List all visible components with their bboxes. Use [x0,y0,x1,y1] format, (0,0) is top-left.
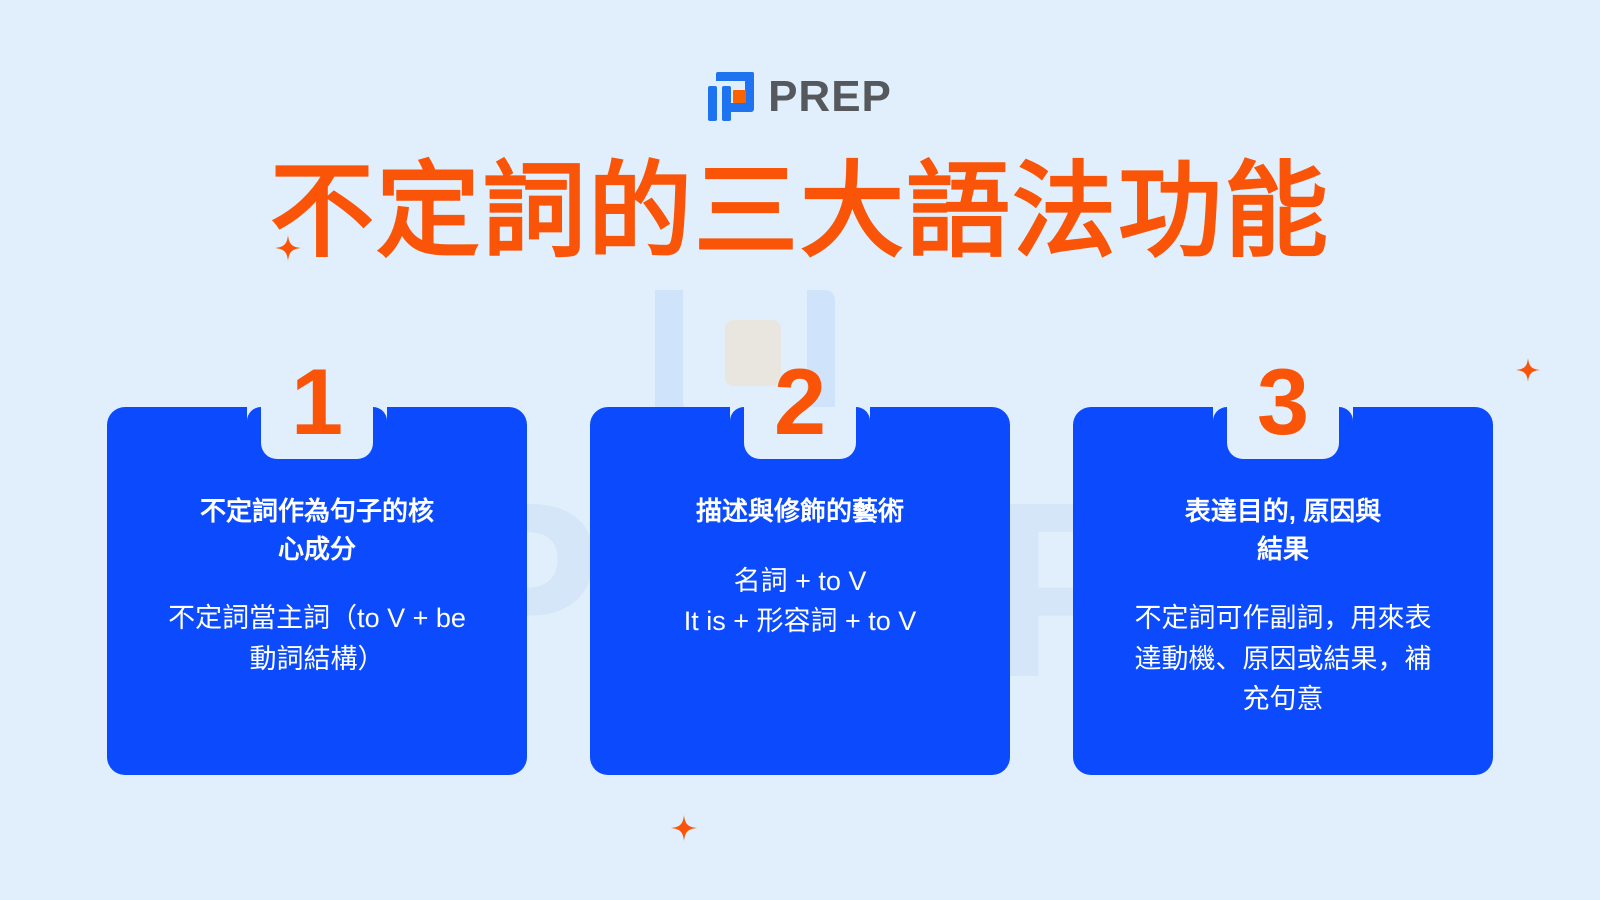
poster-canvas: PREP PREP 不定詞的三大語法功能 1 不定詞作為句子的核 心成分 不定詞… [0,0,1600,900]
card-1-body: 不定詞當主詞（to V + be 動詞結構） [107,598,527,679]
logo-mark-inner-bar [729,103,751,112]
logo-mark-orange-square [733,90,746,103]
feature-card-2: 2 描述與修飾的藝術 名詞 + to V It is + 形容詞 + to V [590,407,1010,775]
page-title: 不定詞的三大語法功能 [0,158,1600,267]
card-2-body: 名詞 + to V It is + 形容詞 + to V [590,561,1010,642]
logo-mark-left-bar [708,86,717,121]
sparkle-right-icon [1516,358,1540,382]
brand-wordmark: PREP [768,75,892,119]
watermark-mark-dot [725,320,781,386]
card-2-title: 描述與修飾的藝術 [590,493,1010,531]
prep-logo-mark-icon [708,72,754,121]
feature-card-3: 3 表達目的, 原因與 結果 不定詞可作副詞，用來表 達動機、原因或結果，補 充… [1073,407,1493,775]
card-3-title: 表達目的, 原因與 結果 [1073,493,1493,568]
card-1-number: 1 [291,355,343,449]
brand-logo: PREP [0,72,1600,121]
card-3-number: 3 [1257,355,1309,449]
feature-card-1: 1 不定詞作為句子的核 心成分 不定詞當主詞（to V + be 動詞結構） [107,407,527,775]
logo-mark-middle-bar [722,86,731,121]
cards-row: 1 不定詞作為句子的核 心成分 不定詞當主詞（to V + be 動詞結構） 2… [107,407,1493,775]
card-2-number: 2 [774,355,826,449]
card-3-body: 不定詞可作副詞，用來表 達動機、原因或結果，補 充句意 [1073,598,1493,720]
sparkle-bottom-icon [671,815,697,841]
card-1-title: 不定詞作為句子的核 心成分 [107,493,527,568]
